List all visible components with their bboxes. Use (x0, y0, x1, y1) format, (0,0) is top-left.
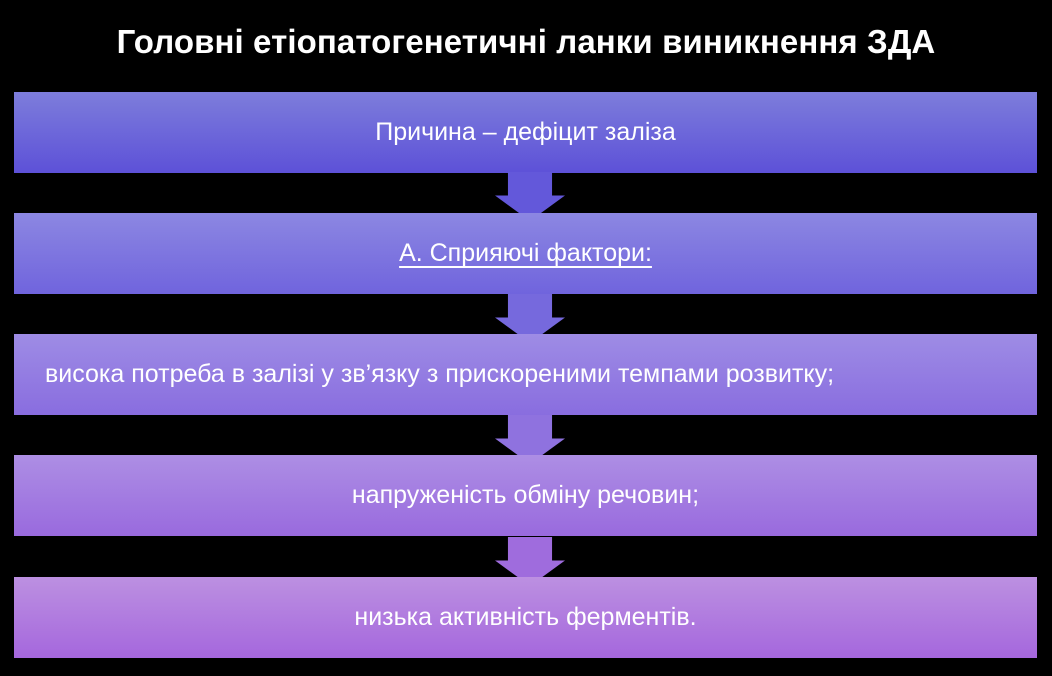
flow-box-cause: Причина – дефіцит заліза (14, 92, 1037, 173)
flow-box-contributing-factors: А. Сприяючі фактори: (14, 213, 1037, 294)
flow-box-label: низька активність ферментів. (354, 603, 696, 632)
flow-box-label: А. Сприяючі фактори: (399, 239, 652, 268)
flow-box-label: напруженість обміну речовин; (352, 481, 699, 510)
flow-box-low-enzyme-activity: низька активність ферментів. (14, 577, 1037, 658)
flow-box-metabolic-tension: напруженість обміну речовин; (14, 455, 1037, 536)
flow-box-label: Причина – дефіцит заліза (375, 118, 676, 147)
flow-box-high-iron-demand: висока потреба в залізі у зв’язку з прис… (14, 334, 1037, 415)
flow-box-label: висока потреба в залізі у зв’язку з прис… (45, 360, 834, 389)
page-title: Головні етіопатогенетичні ланки виникнен… (14, 12, 1038, 72)
slide-canvas: Головні етіопатогенетичні ланки виникнен… (0, 0, 1052, 676)
